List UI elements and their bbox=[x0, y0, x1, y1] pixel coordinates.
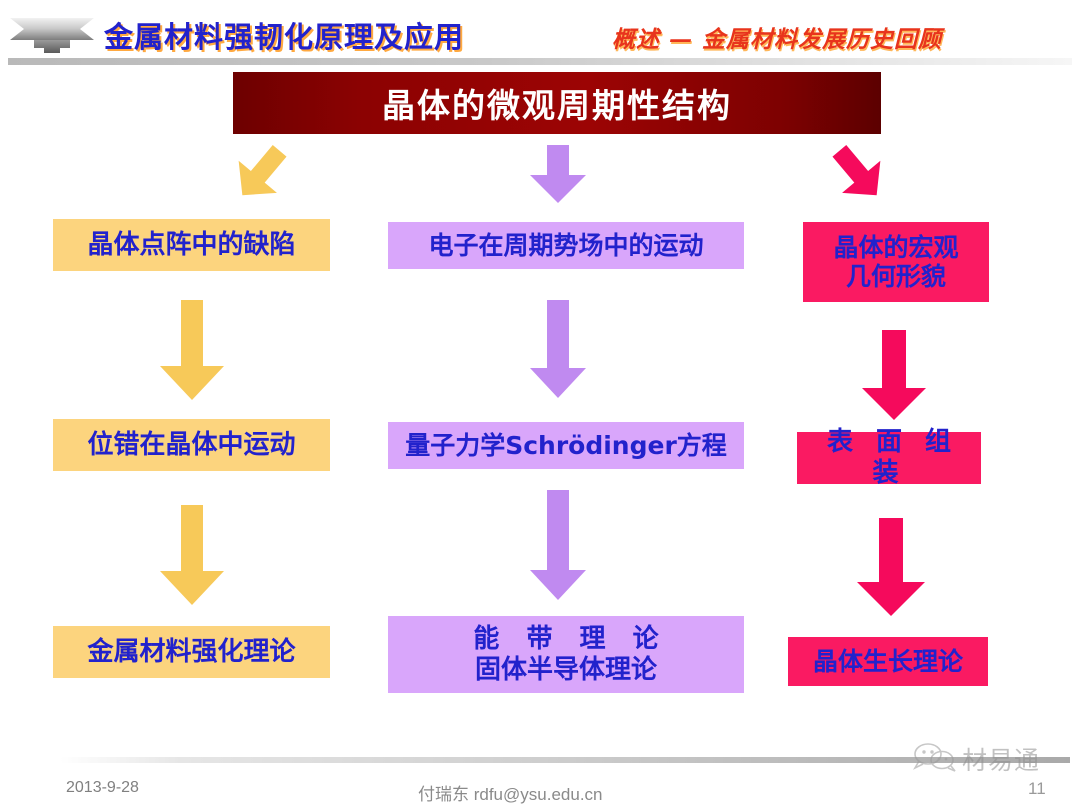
node-label: 金属材料强化理论 bbox=[87, 637, 295, 668]
node-label: 电子在周期势场中的运动 bbox=[428, 231, 703, 261]
slide-header: 金属材料强韧化原理及应用 概述 — 金属材料发展历史回顾 bbox=[0, 0, 1080, 68]
header-divider bbox=[8, 58, 1072, 65]
arrow-pink-row1-row2 bbox=[860, 330, 928, 422]
node-label-line2: 几何形貌 bbox=[846, 262, 946, 292]
node-label: 表 面 组 装 bbox=[797, 427, 981, 488]
arrow-down-purple bbox=[528, 143, 588, 205]
node-dislocation-motion[interactable]: 位错在晶体中运动 bbox=[53, 419, 330, 471]
node-schrodinger-equation[interactable]: 量子力学Schrödinger方程 bbox=[388, 422, 744, 469]
node-crystal-growth-theory[interactable]: 晶体生长理论 bbox=[788, 637, 988, 686]
node-metal-strengthening-theory[interactable]: 金属材料强化理论 bbox=[53, 626, 330, 678]
arrow-down-right-pink bbox=[818, 142, 898, 204]
header-course-title: 金属材料强韧化原理及应用 bbox=[104, 14, 464, 56]
arrow-purple-row2-row3 bbox=[528, 490, 588, 602]
slide-title-text: 晶体的微观周期性结构 bbox=[382, 79, 732, 127]
node-label-line2: 固体半导体理论 bbox=[475, 655, 657, 686]
arrow-yellow-row1-row2 bbox=[158, 300, 226, 402]
node-label: 量子力学Schrödinger方程 bbox=[405, 431, 727, 461]
wechat-bubbles-icon bbox=[912, 741, 958, 778]
arrow-yellow-row2-row3 bbox=[158, 505, 226, 607]
arrow-pink-row2-row3 bbox=[855, 518, 927, 618]
slide-title-banner: 晶体的微观周期性结构 bbox=[233, 72, 881, 134]
node-label-line1: 能 带 理 论 bbox=[464, 624, 667, 655]
header-section-title: 概述 — 金属材料发展历史回顾 bbox=[612, 20, 942, 54]
node-crystal-lattice-defects[interactable]: 晶体点阵中的缺陷 bbox=[53, 219, 330, 271]
arrow-purple-row1-row2 bbox=[528, 300, 588, 400]
watermark: 材易通 bbox=[912, 740, 1072, 778]
node-label: 晶体生长理论 bbox=[813, 647, 963, 677]
node-label: 位错在晶体中运动 bbox=[87, 430, 295, 461]
node-label: 晶体点阵中的缺陷 bbox=[87, 230, 295, 261]
node-band-theory[interactable]: 能 带 理 论 固体半导体理论 bbox=[388, 616, 744, 693]
node-crystal-macro-geometry[interactable]: 晶体的宏观 几何形貌 bbox=[803, 222, 989, 302]
node-surface-assembly[interactable]: 表 面 组 装 bbox=[797, 432, 981, 484]
footer-page-number: 11 bbox=[1028, 779, 1046, 799]
node-label-line1: 晶体的宏观 bbox=[833, 233, 958, 263]
ribbon-banner-logo-icon bbox=[8, 16, 96, 56]
node-electron-periodic-potential[interactable]: 电子在周期势场中的运动 bbox=[388, 222, 744, 269]
footer-author: 付瑞东 rdfu@ysu.edu.cn bbox=[418, 780, 603, 805]
watermark-text: 材易通 bbox=[962, 741, 1040, 777]
footer-date: 2013-9-28 bbox=[66, 779, 139, 797]
arrow-down-left-yellow bbox=[222, 142, 300, 204]
